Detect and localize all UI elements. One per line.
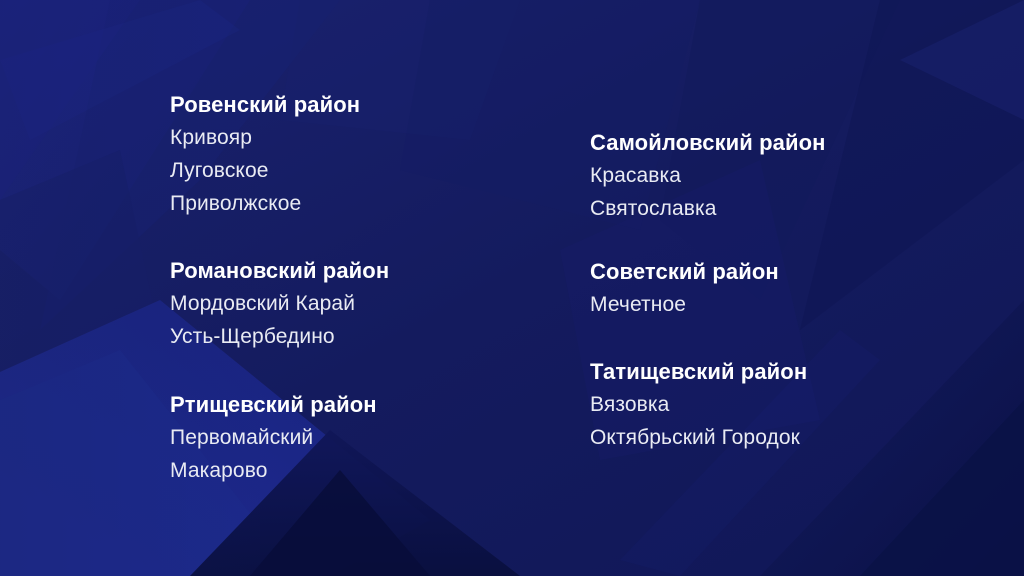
district-title: Романовский район bbox=[170, 254, 389, 287]
settlement-item: Макарово bbox=[170, 454, 377, 487]
district-group: Татищевский район Вязовка Октябрьский Го… bbox=[590, 355, 807, 454]
settlement-item: Мордовский Карай bbox=[170, 287, 389, 320]
slide: Ровенский район Кривояр Луговское Привол… bbox=[0, 0, 1024, 576]
settlement-item: Октябрьский Городок bbox=[590, 421, 807, 454]
district-title: Самойловский район bbox=[590, 126, 826, 159]
district-lists: Ровенский район Кривояр Луговское Привол… bbox=[0, 0, 1024, 576]
settlement-item: Первомайский bbox=[170, 421, 377, 454]
settlement-item: Красавка bbox=[590, 159, 826, 192]
settlement-item: Кривояр bbox=[170, 121, 360, 154]
settlement-item: Приволжское bbox=[170, 187, 360, 220]
settlement-item: Луговское bbox=[170, 154, 360, 187]
district-title: Ровенский район bbox=[170, 88, 360, 121]
district-group: Советский район Мечетное bbox=[590, 255, 779, 321]
district-group: Ртищевский район Первомайский Макарово bbox=[170, 388, 377, 487]
district-group: Самойловский район Красавка Святославка bbox=[590, 126, 826, 225]
settlement-item: Усть-Щербедино bbox=[170, 320, 389, 353]
district-title: Ртищевский район bbox=[170, 388, 377, 421]
district-title: Татищевский район bbox=[590, 355, 807, 388]
settlement-item: Мечетное bbox=[590, 288, 779, 321]
district-group: Романовский район Мордовский Карай Усть-… bbox=[170, 254, 389, 353]
district-group: Ровенский район Кривояр Луговское Привол… bbox=[170, 88, 360, 220]
district-title: Советский район bbox=[590, 255, 779, 288]
settlement-item: Вязовка bbox=[590, 388, 807, 421]
settlement-item: Святославка bbox=[590, 192, 826, 225]
